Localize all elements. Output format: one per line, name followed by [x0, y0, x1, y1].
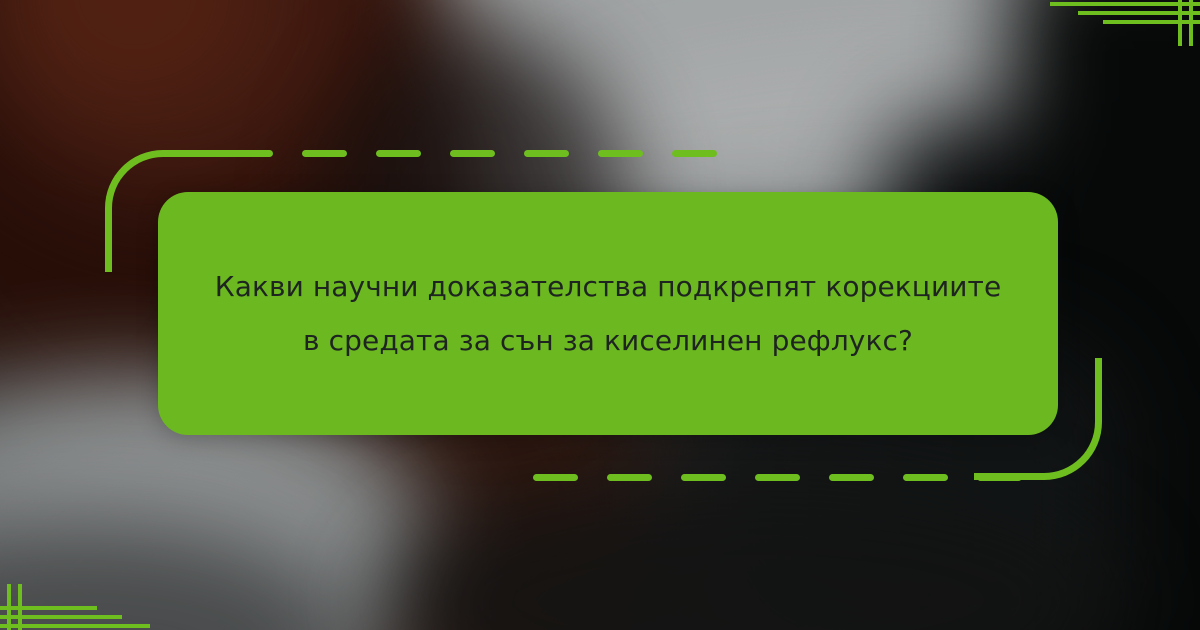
bracket-line-vertical-2 — [7, 584, 11, 630]
bracket-line-horizontal-3 — [1103, 20, 1200, 24]
decor-dash — [755, 474, 800, 481]
decor-dash — [533, 474, 578, 481]
decor-dashed-line-bottom — [533, 474, 1022, 481]
decor-dashed-line-top — [228, 150, 717, 157]
decor-dash — [302, 150, 347, 157]
question-text: Какви научни доказателства подкрепят кор… — [213, 260, 1003, 368]
decor-dash — [681, 474, 726, 481]
corner-bracket-top-right — [1040, 0, 1200, 46]
decor-dash — [977, 474, 1022, 481]
decor-dash — [672, 150, 717, 157]
corner-bracket-bottom-left — [0, 584, 160, 630]
decor-dash — [607, 474, 652, 481]
question-card: Какви научни доказателства подкрепят кор… — [158, 192, 1058, 435]
decor-dash — [376, 150, 421, 157]
decor-dash — [228, 150, 273, 157]
bracket-line-vertical-2 — [1189, 0, 1193, 46]
bracket-line-vertical-1 — [18, 584, 22, 630]
decor-dash — [903, 474, 948, 481]
bracket-line-vertical-1 — [1178, 0, 1182, 46]
bracket-line-horizontal-1 — [0, 624, 150, 628]
decor-dash — [829, 474, 874, 481]
decor-dash — [450, 150, 495, 157]
decor-dash — [598, 150, 643, 157]
decor-dash — [524, 150, 569, 157]
bracket-line-horizontal-3 — [0, 606, 97, 610]
